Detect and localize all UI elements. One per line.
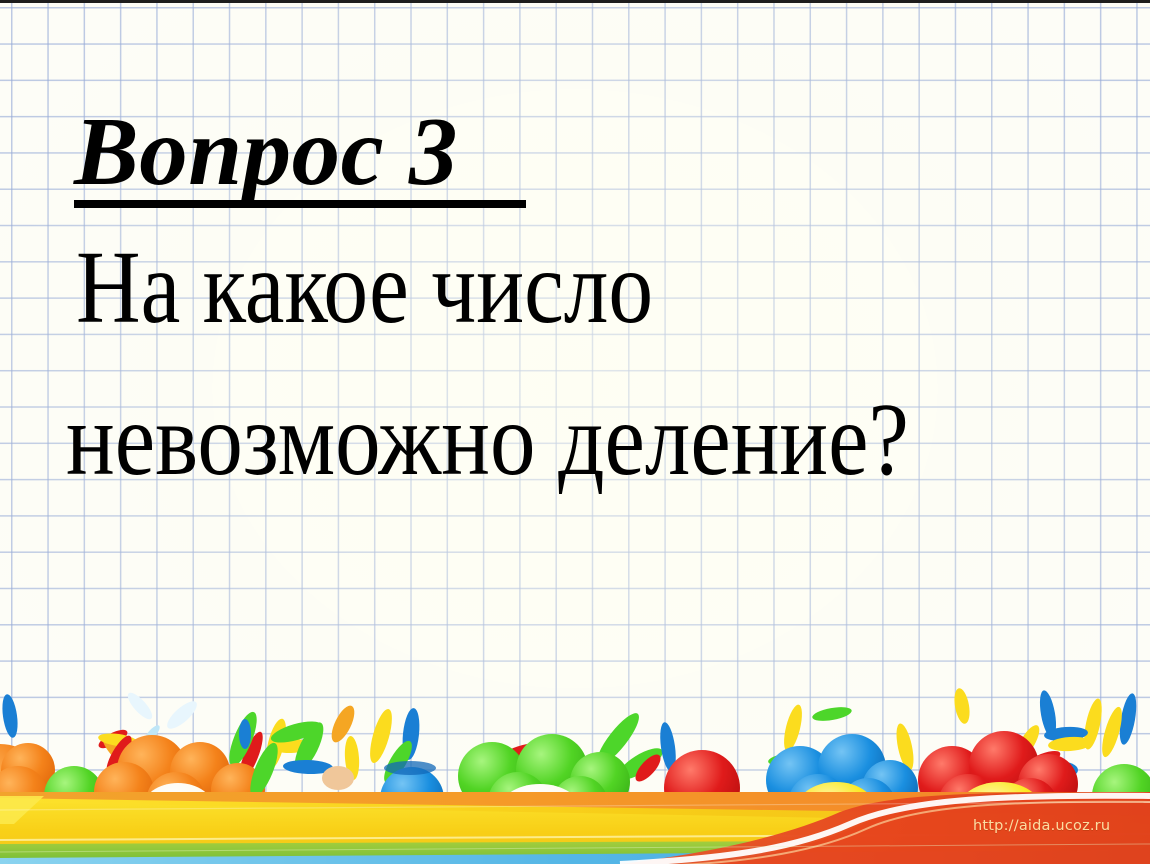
source-watermark: http://aida.ucoz.ru [973,818,1110,834]
slide-title-wrapper: Вопрос 3 [74,103,544,200]
question-line-1: На какое число [76,236,653,340]
slide-canvas: Вопрос 3 На какое число невозможно делен… [0,0,1150,864]
page-title: Вопрос 3 [74,103,544,200]
title-underline-rule [74,200,526,208]
flower-confetti-border-decoration [0,684,1150,864]
slide-text-area: Вопрос 3 На какое число невозможно делен… [0,0,1150,700]
question-line-2: невозможно деление? [66,388,909,492]
